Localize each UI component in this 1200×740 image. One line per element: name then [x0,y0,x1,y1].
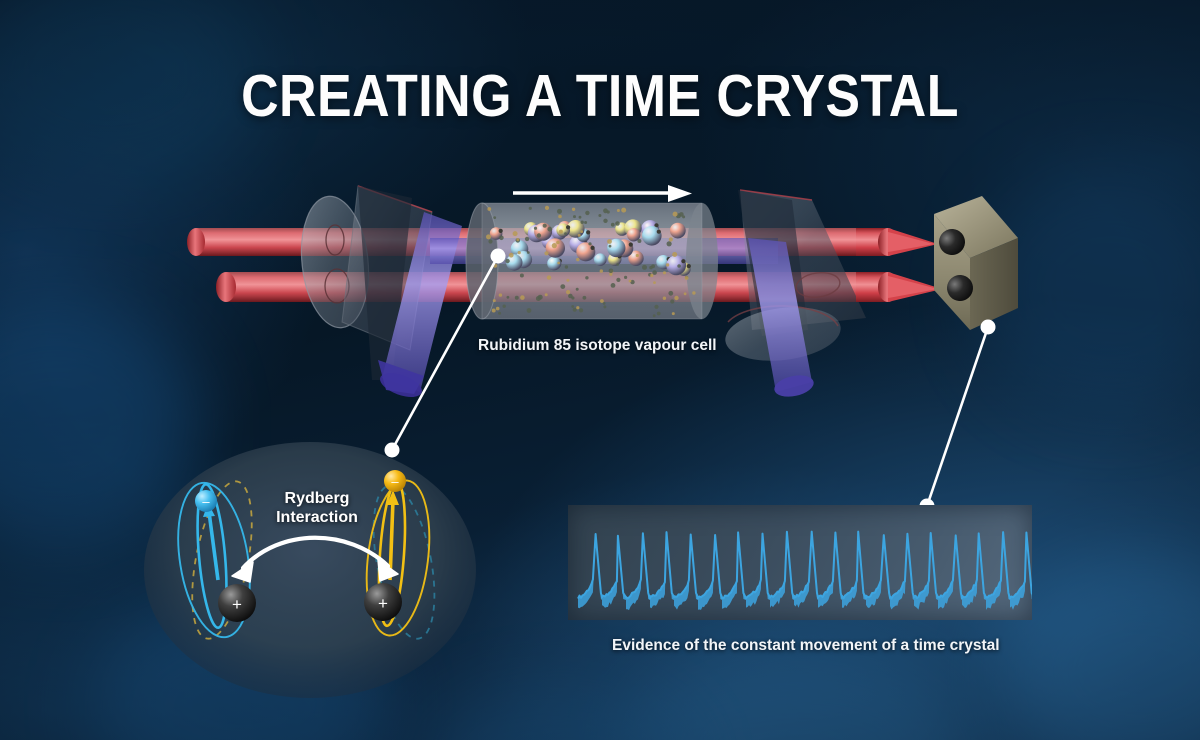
cell-particle-dot [611,283,616,288]
rydberg-label-line1: Rydberg [262,490,372,509]
cell-particle-dot [515,296,519,300]
cell-particle-dot [649,266,652,269]
cell-particle-dot [657,312,661,316]
cell-particle-dot [672,252,677,257]
cell-particle-dot [600,269,603,272]
atom-right-nucleus-charge: + [378,594,388,613]
cell-particle-dot [598,214,601,217]
cell-particle-dot [520,274,524,278]
cell-particle-dot [607,239,612,244]
cell-atom-electron [586,230,590,234]
cell-particle-dot [609,245,612,248]
cell-particle-dot [636,254,639,257]
cell-particle-dot [516,238,519,241]
cell-particle-dot [673,212,678,217]
laser-beam-red-focus-upper [856,228,938,256]
cell-particle-dot [492,309,496,313]
cell-particle-dot [600,299,604,303]
cell-particle-dot [615,221,620,226]
cell-particle-dot [629,280,632,283]
cell-particle-dot [674,296,678,300]
cell-particle-dot [576,288,579,291]
cell-particle-dot [672,312,675,315]
cell-particle-dot [637,239,641,243]
cell-particle-dot [557,262,560,265]
cell-particle-dot [566,290,570,294]
cell-particle-dot [576,258,579,261]
cell-particle-dot [670,299,674,303]
cell-atom-electron [591,246,595,250]
oscilloscope-trace [568,505,1032,620]
cell-atom-electron [657,230,661,234]
cell-atom-electron [566,225,570,229]
rydberg-label-line2: Interaction [262,509,372,528]
cell-particle-dot [557,209,562,214]
cell-particle-dot [584,221,587,224]
cell-particle-dot [616,263,619,266]
cell-particle-dot [667,241,672,246]
cell-particle-dot [585,211,589,215]
cell-particle-dot [588,242,591,245]
cell-particle-dot [603,305,606,308]
cell-particle-dot [538,295,543,300]
cell-particle-dot [578,234,581,237]
cell-particle-dot [668,291,673,296]
cell-particle-dot [666,263,669,266]
cell-particle-dot [576,306,579,309]
cell-particle-dot [552,243,557,248]
cell-particle-dot [571,305,574,308]
cell-atom [666,255,686,275]
cell-particle-dot [573,308,577,312]
optics-diagram: + – + – [0,0,1200,740]
cell-particle-dot [617,209,620,212]
cell-atom-electron [687,264,691,268]
cell-particle-dot [572,208,575,211]
atom-right-electron-charge: – [391,474,399,489]
cell-atom [670,223,686,239]
cell-particle-dot [507,296,510,299]
scope-caption: Evidence of the constant movement of a t… [612,637,1000,655]
flow-arrow-icon [513,185,692,202]
cell-particle-dot [537,233,541,237]
cell-particle-dot [682,215,685,218]
cell-particle-dot [624,276,627,279]
atom-left-electron-charge: – [202,494,210,509]
cell-particle-dot [527,308,532,313]
cell-particle-dot [527,251,530,254]
cell-particle-dot [545,293,548,296]
cell-particle-dot [544,251,548,255]
cell-particle-dot [677,264,681,268]
cell-particle-dot [560,284,565,289]
cell-particle-dot [621,208,626,213]
cell-particle-dot [580,230,583,233]
cell-particle-dot [509,253,514,258]
rydberg-inset: + – + – [144,442,476,698]
cell-particle-dot [581,221,584,224]
cell-particle-dot [543,224,547,228]
cell-particle-dot [505,259,509,263]
cell-particle-dot [653,314,656,317]
laser-beam-red-focus-lower [856,272,942,302]
cell-particle-dot [499,293,502,296]
cell-particle-dot [669,237,673,241]
cell-particle-dot [573,215,576,218]
cell-particle-dot [650,274,653,277]
cell-particle-dot [653,281,656,284]
vapour-cell-label: Rubidium 85 isotope vapour cell [478,337,717,355]
cell-particle-dot [585,276,588,279]
infographic-canvas: CREATING A TIME CRYSTAL [0,0,1200,740]
cell-particle-dot [503,305,506,308]
cell-particle-dot [642,265,647,270]
cell-particle-dot [579,308,583,312]
cell-particle-dot [692,291,695,294]
cell-atom-electron [499,229,503,233]
cell-atom [642,226,662,246]
cell-particle-dot [579,216,582,219]
cell-particle-dot [518,251,521,254]
cell-particle-dot [534,227,537,230]
cell-particle-dot [545,206,549,210]
cell-particle-dot [685,276,689,280]
cell-particle-dot [663,271,666,274]
cell-particle-dot [556,241,560,245]
cell-particle-dot [487,207,491,211]
atom-left-nucleus-charge: + [232,595,242,614]
cell-particle-dot [493,299,496,302]
cell-particle-dot [568,294,573,299]
oscilloscope-panel [568,505,1032,620]
rydberg-interaction-label: Rydberg Interaction [262,490,372,528]
cell-atom [576,242,595,261]
cell-particle-dot [654,305,658,309]
cell-particle-dot [564,232,567,235]
cell-particle-dot [529,207,532,210]
cell-atom [546,238,565,257]
cell-particle-dot [583,296,587,300]
cell-particle-dot [498,312,501,315]
cell-atom-electron [629,243,633,247]
cell-particle-dot [499,236,504,241]
cell-particle-dot [603,219,607,223]
cell-particle-dot [513,231,518,236]
cell-particle-dot [609,269,614,274]
cell-particle-dot [520,295,525,300]
cell-particle-dot [616,278,620,282]
cell-particle-dot [486,234,491,239]
cell-particle-dot [488,239,492,243]
leader-line-detector-to-scope [920,320,996,514]
cell-atom-electron [681,259,685,263]
cell-particle-dot [663,297,666,300]
cell-particle-dot [603,208,608,213]
cell-particle-dot [547,227,552,232]
cell-particle-dot [565,265,568,268]
cell-particle-dot [652,270,657,275]
cell-particle-dot [493,216,496,219]
cell-particle-dot [496,307,500,311]
cell-atom [594,253,607,266]
cell-particle-dot [558,215,562,219]
cell-particle-dot [611,223,615,227]
cell-particle-dot [566,279,569,282]
cell-particle-dot [559,230,563,234]
cell-particle-dot [684,292,687,295]
cell-particle-dot [525,237,529,241]
photodetector [934,196,1018,330]
cell-particle-dot [547,275,551,279]
